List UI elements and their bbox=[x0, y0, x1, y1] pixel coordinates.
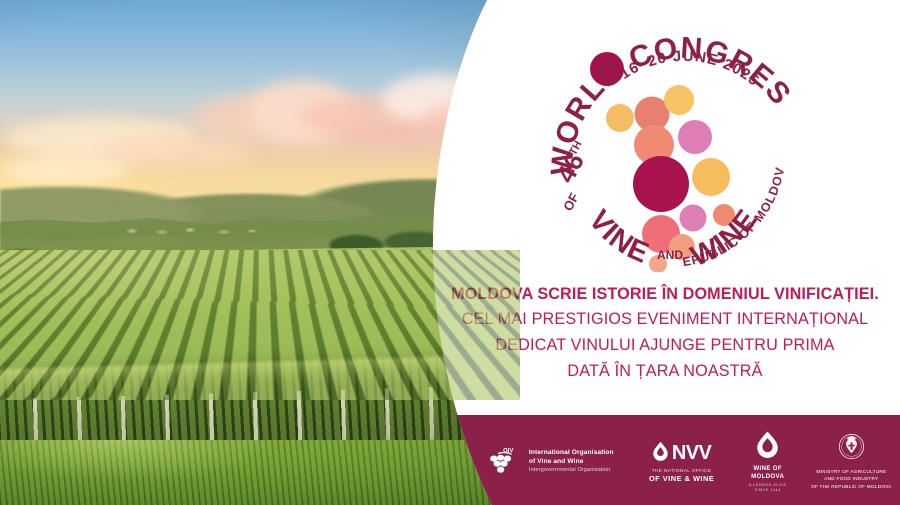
onvv-subtitle-line-2: OF VINE & WINE bbox=[649, 474, 714, 483]
oiv-subtitle: Intergovernmental Organisation bbox=[529, 467, 614, 474]
onvv-subtitle-line-1: THE NATIONAL OFFICE bbox=[649, 468, 714, 473]
headline-line-2: CEL MAI PRESTIGIOS EVENIMENT INTERNAȚION… bbox=[440, 306, 890, 332]
headline-line-4: DATĂ ÎN ȚARA NOASTRĂ bbox=[440, 358, 890, 384]
headline-line-3: DEDICAT VINULUI AJUNGE PENTRU PRIMA bbox=[440, 332, 890, 358]
oiv-name-line-2: of Vine and Wine bbox=[529, 458, 614, 466]
ministry-name-line-3: OF THE REPUBLIC OF MOLDOVA bbox=[811, 483, 892, 490]
wom-name-line-2: MOLDOVA bbox=[749, 474, 787, 481]
ministry-name-line-1: MINISTRY OF AGRICULTURE bbox=[811, 468, 892, 475]
logo-bubble bbox=[680, 205, 707, 232]
partner-logo-wine-of-moldova[interactable]: WINE OF MOLDOVA A LEGEND ALIVE SINCE 141… bbox=[733, 431, 803, 493]
logo-and: AND bbox=[657, 248, 683, 262]
flame-drop-icon bbox=[652, 441, 669, 466]
logo-of: OF bbox=[560, 190, 582, 213]
logo-bubble bbox=[606, 104, 634, 132]
partner-logo-onvv[interactable]: NVV THE NATIONAL OFFICE OF VINE & WINE bbox=[631, 431, 733, 493]
foreground-grass bbox=[0, 440, 520, 505]
vineyard-photo bbox=[0, 0, 520, 505]
logo-bubble bbox=[664, 85, 694, 115]
congress-logo: 16–20 JUNE 2025 WORLD CONGRESS VINE WINE… bbox=[548, 22, 804, 272]
oiv-name-line-1: International Organisation bbox=[529, 449, 614, 457]
logo-bubble-main bbox=[633, 156, 689, 212]
coat-of-arms-icon bbox=[838, 447, 865, 464]
headline-block: MOLDOVA SCRIE ISTORIE ÎN DOMENIUL VINIFI… bbox=[440, 283, 890, 385]
logo-bubble bbox=[692, 158, 730, 196]
onvv-abbr: NVV bbox=[672, 442, 711, 465]
svg-text:OF: OF bbox=[560, 190, 582, 213]
headline-line-1: MOLDOVA SCRIE ISTORIE ÎN DOMENIUL VINIFI… bbox=[440, 283, 890, 306]
logo-vine-text: VINE bbox=[582, 204, 654, 270]
wine-drop-icon bbox=[755, 445, 780, 462]
partner-logo-ministry[interactable]: MINISTRY OF AGRICULTURE AND FOOD INDUSTR… bbox=[803, 431, 900, 493]
partner-logo-oiv[interactable]: OIV International Organisation of Vine a… bbox=[470, 431, 631, 493]
wom-tagline-line-2: SINCE 1414 bbox=[749, 488, 787, 493]
congress-banner: 16–20 JUNE 2025 WORLD CONGRESS VINE WINE… bbox=[0, 0, 900, 505]
ministry-name-line-2: AND FOOD INDUSTRY bbox=[811, 475, 892, 482]
svg-text:AND: AND bbox=[657, 248, 683, 262]
partner-logos: OIV International Organisation of Vine a… bbox=[470, 424, 900, 499]
logo-ordinal: 46 TH bbox=[550, 137, 596, 188]
logo-bubble bbox=[678, 120, 712, 154]
wom-name-line-1: WINE OF bbox=[749, 466, 787, 473]
cloud bbox=[330, 122, 520, 152]
grape-cluster-icon: OIV bbox=[487, 445, 521, 479]
svg-text:OIV: OIV bbox=[503, 448, 513, 454]
